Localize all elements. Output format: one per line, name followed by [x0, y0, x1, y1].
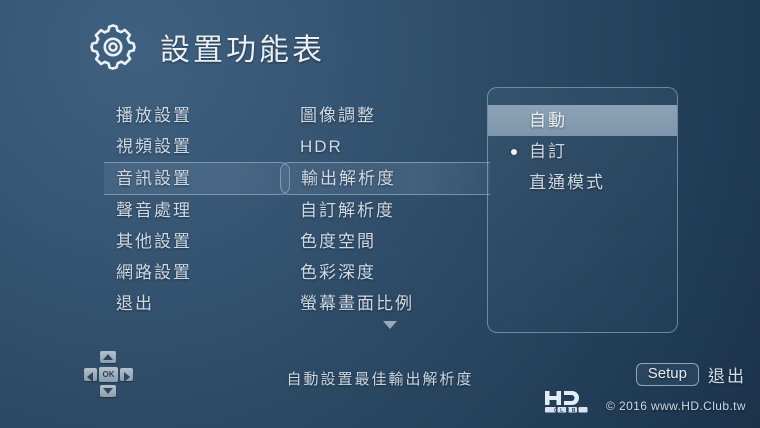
option-passthrough-label: 直通模式: [529, 173, 605, 192]
brand-row: CLUB © 2016 www.HD.Club.tw: [544, 390, 746, 414]
menu-item-hdr[interactable]: HDR: [290, 131, 490, 162]
svg-text:CLUB: CLUB: [554, 408, 578, 414]
copyright-text: © 2016 www.HD.Club.tw: [606, 399, 746, 414]
option-custom[interactable]: 自訂: [488, 136, 677, 167]
setup-menu-screen: 設置功能表 播放設置 視頻設置 音訊設置 聲音處理 其他設置 網路設置 退出 圖…: [0, 0, 760, 428]
option-passthrough[interactable]: 直通模式: [488, 167, 677, 198]
menu-item-output-resolution[interactable]: 輸出解析度: [280, 162, 490, 195]
option-auto-label: 自動: [529, 111, 567, 130]
options-panel: 自動 自訂 直通模式: [487, 87, 678, 333]
chevron-down-glyph: [383, 321, 397, 329]
sidebar-item-audio[interactable]: 音訊設置: [104, 162, 290, 195]
sidebar-item-video[interactable]: 視頻設置: [104, 131, 280, 162]
up-arrow-glyph: [103, 354, 113, 360]
ok-button[interactable]: OK: [99, 367, 118, 382]
chevron-down-icon[interactable]: [290, 316, 490, 334]
sidebar-item-playback[interactable]: 播放設置: [104, 100, 280, 131]
right-arrow-icon[interactable]: [120, 368, 133, 381]
radio-selected-icon: [511, 149, 517, 155]
right-arrow-glyph: [124, 372, 130, 382]
menu-item-custom-resolution[interactable]: 自訂解析度: [290, 195, 490, 226]
option-custom-label: 自訂: [529, 142, 567, 161]
menu-item-aspect-ratio[interactable]: 螢幕畫面比例: [290, 288, 490, 319]
dpad-navigation: OK: [84, 351, 132, 397]
left-arrow-glyph: [87, 372, 93, 382]
setup-exit-row: Setup 退出: [544, 362, 746, 387]
setup-button[interactable]: Setup: [636, 363, 699, 386]
exit-label: 退出: [708, 362, 746, 387]
sidebar-item-exit[interactable]: 退出: [104, 288, 280, 319]
sidebar-item-network[interactable]: 網路設置: [104, 257, 280, 288]
left-menu: 播放設置 視頻設置 音訊設置 聲音處理 其他設置 網路設置 退出: [104, 100, 280, 319]
page-title: 設置功能表: [160, 25, 325, 69]
down-arrow-icon[interactable]: [100, 385, 116, 397]
menu-item-color-depth[interactable]: 色彩深度: [290, 257, 490, 288]
middle-menu: 圖像調整 HDR 輸出解析度 自訂解析度 色度空間 色彩深度 螢幕畫面比例: [290, 100, 490, 319]
footer-right: Setup 退出 CLUB ©: [544, 362, 746, 414]
option-auto[interactable]: 自動: [487, 105, 678, 136]
left-arrow-icon[interactable]: [84, 368, 97, 381]
down-arrow-glyph: [103, 388, 113, 394]
hdclub-logo: CLUB: [544, 390, 596, 414]
sidebar-item-other[interactable]: 其他設置: [104, 226, 280, 257]
sidebar-item-sound-processing[interactable]: 聲音處理: [104, 195, 280, 226]
gear-icon: [88, 22, 138, 72]
menu-item-color-space[interactable]: 色度空間: [290, 226, 490, 257]
up-arrow-icon[interactable]: [100, 351, 116, 363]
page-header: 設置功能表: [88, 22, 325, 72]
menu-item-picture-adjust[interactable]: 圖像調整: [290, 100, 490, 131]
